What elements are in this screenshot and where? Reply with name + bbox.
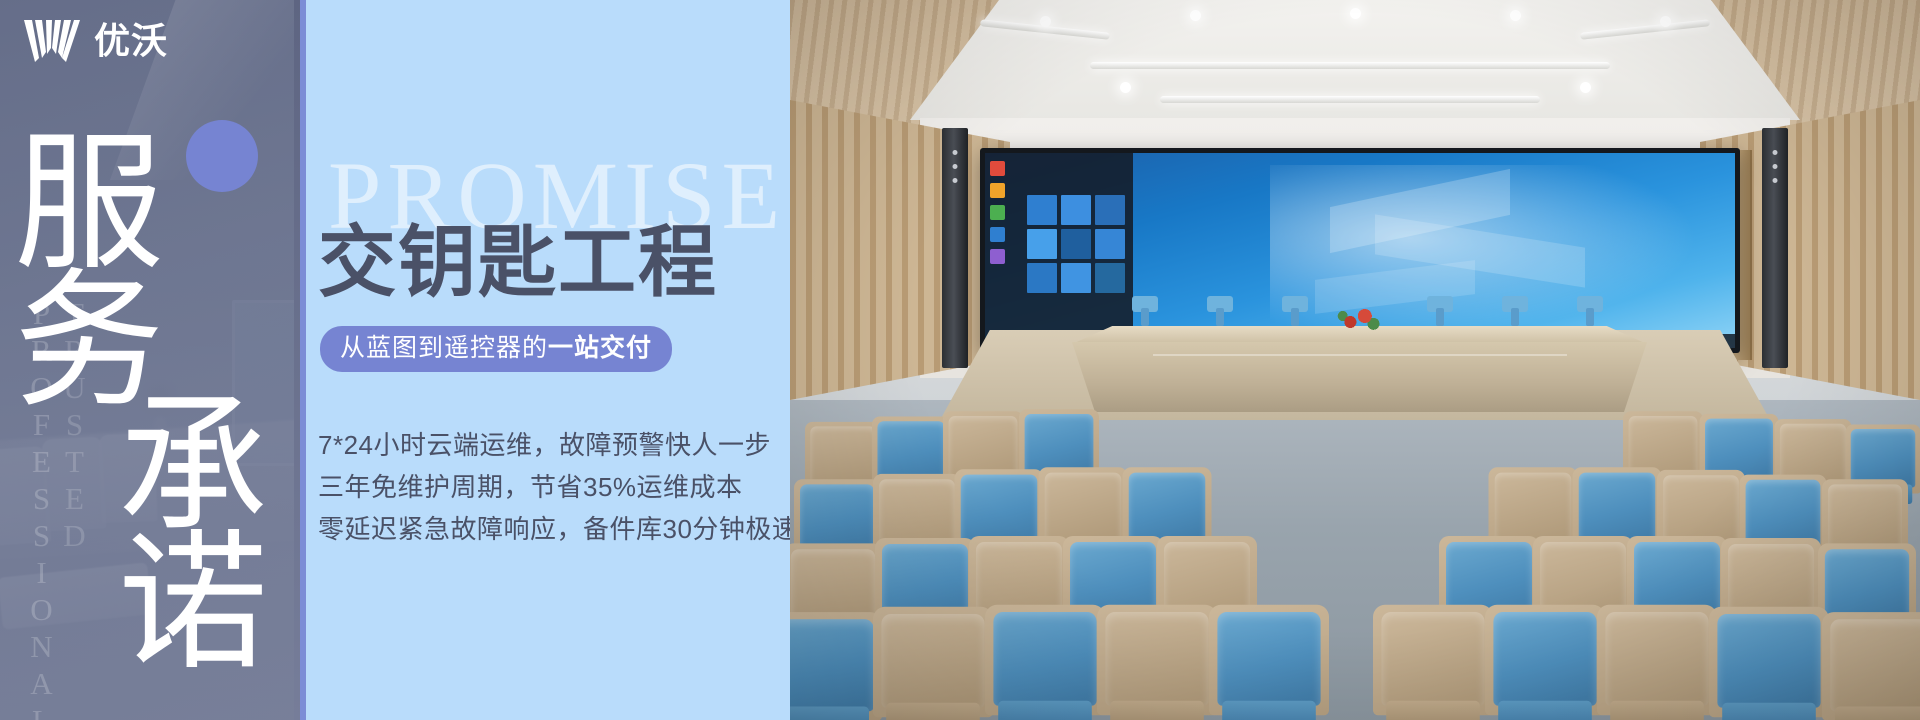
ceiling-downlight [1190, 10, 1201, 21]
middle-content-panel: PROMISE 交钥匙工程 从蓝图到遥控器的一站交付 7*24小时云端运维，故障… [300, 0, 790, 720]
left-panel: PROFESSIONAL TRUSTED 服务 承诺 优沃 [0, 0, 300, 720]
ceiling-light-slot [1090, 62, 1610, 69]
service-promise-banner: PROFESSIONAL TRUSTED 服务 承诺 优沃 PROMISE 交钥… [0, 0, 1920, 720]
ceiling-downlight [1660, 16, 1671, 27]
pillar-indicator-dots [1773, 150, 1778, 192]
auditorium-seat [1217, 612, 1320, 720]
auditorium-seat [1381, 612, 1484, 720]
auditorium-seat [1493, 612, 1596, 720]
audience-seating [790, 300, 1920, 720]
ceiling-downlight [1580, 82, 1591, 93]
ceiling-downlight [1510, 10, 1521, 21]
ceiling-light-slot [1160, 96, 1540, 103]
uwo-w-mark-icon [22, 18, 82, 64]
auditorium-seat [881, 614, 984, 720]
badge-highlight-text: 一站交付 [548, 334, 652, 362]
auditorium-seat [790, 619, 874, 720]
ceiling-downlight [1040, 16, 1051, 27]
start-menu-tiles [1027, 195, 1127, 293]
feature-line-1: 7*24小时云端运维，故障预警快人一步 [318, 424, 790, 466]
auditorium-seat [1717, 614, 1820, 720]
feature-list: 7*24小时云端运维，故障预警快人一步 三年免维护周期，节省35%运维成本 零延… [318, 424, 790, 550]
auditorium-seat [1105, 612, 1208, 720]
pillar-indicator-dots [953, 150, 958, 192]
brand-logo[interactable]: 优沃 [22, 18, 168, 64]
feature-line-2: 三年免维护周期，节省35%运维成本 [318, 466, 790, 508]
brand-name: 优沃 [94, 23, 168, 59]
auditorium-seat [993, 612, 1096, 720]
left-headline: 服务 承诺 [10, 136, 300, 674]
subtitle-badge: 从蓝图到遥控器的一站交付 [320, 326, 672, 372]
ceiling-downlight [1120, 82, 1131, 93]
auditorium-seat [1605, 612, 1708, 720]
feature-line-3: 零延迟紧急故障响应，备件库30分钟极速达 [318, 508, 790, 550]
headline-line-two: 承诺 [118, 398, 300, 674]
middle-accent-bar [300, 0, 306, 720]
ceiling-downlight [1350, 8, 1361, 19]
start-menu-sidebar-icons [990, 161, 1005, 271]
main-heading: 交钥匙工程 [318, 222, 718, 304]
auditorium-photo-panel [790, 0, 1920, 720]
badge-prefix-text: 从蓝图到遥控器的 [340, 334, 548, 362]
auditorium-seat [1830, 619, 1920, 720]
headline-line-one: 服务 [14, 136, 300, 412]
